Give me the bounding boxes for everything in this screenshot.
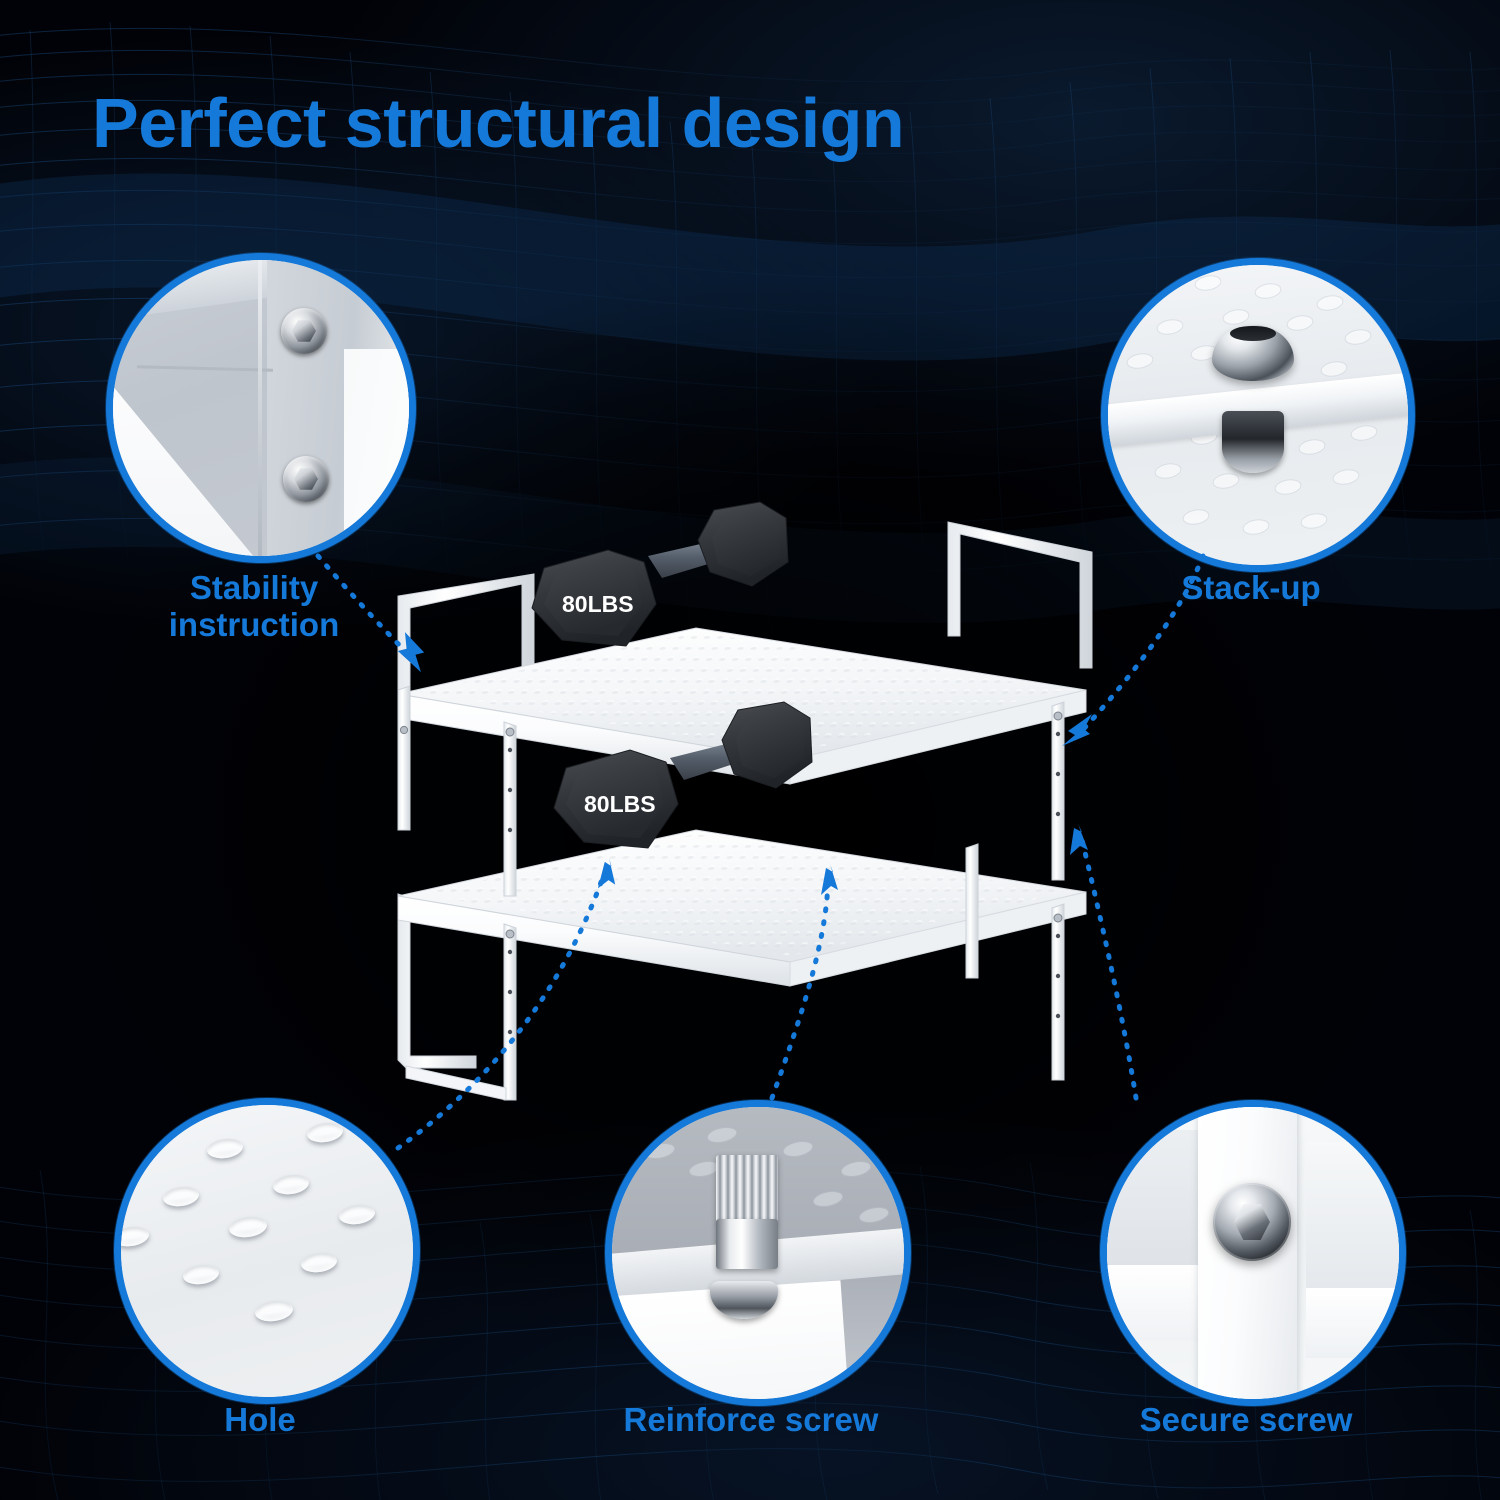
product-illustration: 80LBS 80LBS — [380, 500, 1120, 1100]
stability-instruction-label: Stability instruction — [96, 570, 412, 644]
lower-shelf-rear-frame-right — [966, 844, 978, 978]
upper-shelf-front-leg-right — [1052, 702, 1064, 880]
knurled-screw-barrel — [716, 1155, 778, 1223]
upper-shelf-front-leg-left — [504, 722, 516, 896]
infographic-canvas: Perfect structural design — [0, 0, 1500, 1500]
stability-instruction-detail-circle[interactable] — [106, 253, 416, 563]
lower-shelf-foot-bar — [406, 1066, 506, 1100]
hex-screw-icon — [281, 308, 327, 354]
dumbbell-upper-weight-label: 80LBS — [562, 591, 634, 617]
stack-up-label: Stack-up — [1101, 570, 1401, 607]
dumbbell-upper: 80LBS — [532, 502, 788, 646]
stack-socket — [1222, 411, 1284, 473]
lower-shelf-panel — [398, 830, 1086, 986]
reinforce-screw-label: Reinforce screw — [575, 1402, 927, 1439]
hex-screw-icon — [283, 456, 329, 502]
lower-shelf-front-leg-right — [1052, 904, 1064, 1080]
hole-label: Hole — [114, 1402, 406, 1439]
page-title: Perfect structural design — [92, 88, 904, 158]
secure-hex-screw-icon — [1213, 1183, 1291, 1261]
hole-detail-circle[interactable] — [114, 1098, 420, 1404]
lower-shelf-front-leg-left — [504, 924, 516, 1100]
upper-shelf-rear-leg-left — [398, 686, 410, 830]
dumbbell-lower-weight-label: 80LBS — [584, 791, 656, 817]
reinforce-screw-detail-circle[interactable] — [605, 1100, 911, 1406]
stack-up-detail-circle[interactable] — [1101, 258, 1415, 572]
upper-shelf-handle-right — [948, 522, 1092, 668]
secure-screw-detail-circle[interactable] — [1100, 1100, 1406, 1406]
secure-screw-label: Secure screw — [1086, 1402, 1406, 1439]
screw-collar — [716, 1219, 778, 1269]
